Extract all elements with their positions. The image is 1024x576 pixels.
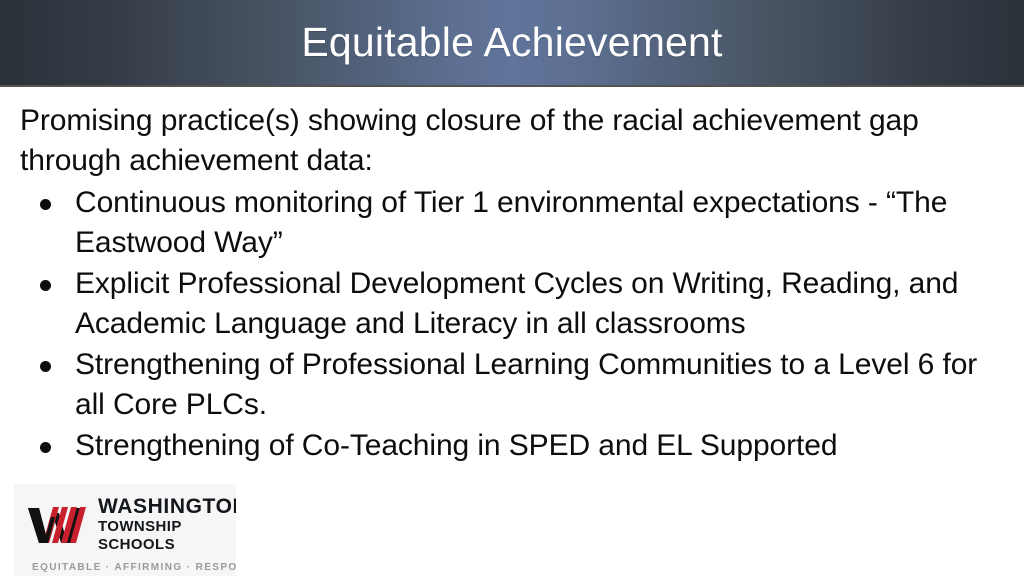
bullet-dot-icon <box>40 442 51 453</box>
list-item-text: Strengthening of Co-Teaching in SPED and… <box>75 429 837 462</box>
bullet-list: Continuous monitoring of Tier 1 environm… <box>20 183 998 466</box>
lead-paragraph: Promising practice(s) showing closure of… <box>20 101 998 181</box>
logo-line-2: TOWNSHIP SCHOOLS <box>98 518 236 554</box>
page-title: Equitable Achievement <box>301 22 722 63</box>
list-item-text: Explicit Professional Development Cycles… <box>75 267 958 340</box>
list-item: Explicit Professional Development Cycles… <box>20 264 998 344</box>
organization-logo: WASHINGTON TOWNSHIP SCHOOLS EQUITABLE · … <box>14 484 236 576</box>
list-item: Strengthening of Co-Teaching in SPED and… <box>20 426 998 466</box>
slide-title-bar: Equitable Achievement <box>0 0 1024 87</box>
bullet-dot-icon <box>40 199 51 210</box>
logo-tagline: EQUITABLE · AFFIRMING · RESPONSIVE <box>14 562 236 573</box>
slide: Equitable Achievement Promising practice… <box>0 0 1024 576</box>
list-item-text: Continuous monitoring of Tier 1 environm… <box>75 186 947 259</box>
logo-line-1: WASHINGTON <box>98 496 236 517</box>
list-item: Strengthening of Professional Learning C… <box>20 345 998 425</box>
washington-township-w-mark-icon <box>26 505 92 545</box>
bullet-dot-icon <box>40 280 51 291</box>
bullet-dot-icon <box>40 361 51 372</box>
list-item-text: Strengthening of Professional Learning C… <box>75 348 977 421</box>
list-item: Continuous monitoring of Tier 1 environm… <box>20 183 998 263</box>
